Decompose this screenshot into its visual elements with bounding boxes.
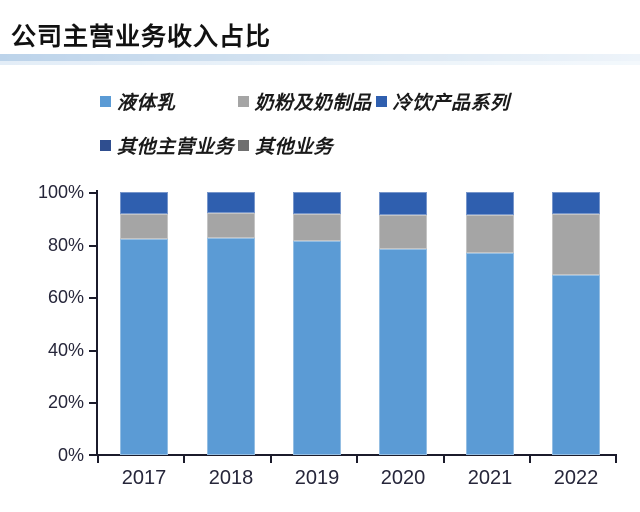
y-tick-label-100: 100% [24,182,84,203]
bar-segment-2019-奶粉及奶制品[interactable] [293,214,341,241]
bar-segment-2017-液体乳[interactable] [120,239,168,455]
bar-segment-2017-奶粉及奶制品[interactable] [120,214,168,239]
bar-group-2017[interactable] [120,192,168,455]
x-tick-label-2021: 2021 [450,467,530,490]
bar-segment-2020-冷饮产品系列[interactable] [379,192,427,215]
x-tick-mark-0 [97,456,99,463]
y-tick-label-0: 0% [24,445,84,466]
bar-segment-2022-液体乳[interactable] [552,275,600,455]
y-tick-mark-0 [89,454,96,456]
y-tick-mark-20 [89,402,96,404]
bar-segment-2022-奶粉及奶制品[interactable] [552,214,600,274]
chart-plot-area: 100% 80% 60% 40% 20% 0% 2017 2018 2019 2… [0,0,640,512]
bar-segment-2017-冷饮产品系列[interactable] [120,192,168,214]
bar-segment-2019-冷饮产品系列[interactable] [293,192,341,214]
y-tick-mark-60 [89,297,96,299]
y-tick-label-20: 20% [24,392,84,413]
x-tick-label-2018: 2018 [191,467,271,490]
y-tick-mark-100 [89,192,96,194]
y-tick-mark-80 [89,245,96,247]
bar-group-2022[interactable] [552,192,600,455]
bar-group-2018[interactable] [207,192,255,455]
bar-segment-2018-冷饮产品系列[interactable] [207,192,255,213]
bar-segment-2019-液体乳[interactable] [293,241,341,455]
x-tick-label-2022: 2022 [536,467,616,490]
y-tick-label-60: 60% [24,287,84,308]
y-tick-label-80: 80% [24,235,84,256]
x-tick-mark-3 [356,456,358,463]
bar-group-2019[interactable] [293,192,341,455]
bar-segment-2018-液体乳[interactable] [207,238,255,455]
bar-group-2021[interactable] [466,192,514,455]
x-tick-mark-4 [443,456,445,463]
x-tick-mark-5 [529,456,531,463]
bar-group-2020[interactable] [379,192,427,455]
bar-segment-2021-奶粉及奶制品[interactable] [466,215,514,253]
bar-segment-2021-液体乳[interactable] [466,253,514,455]
bar-segment-2020-液体乳[interactable] [379,249,427,455]
bar-segment-2018-奶粉及奶制品[interactable] [207,213,255,238]
x-tick-mark-2 [270,456,272,463]
x-tick-mark-6 [615,456,617,463]
bar-segment-2020-奶粉及奶制品[interactable] [379,215,427,249]
x-tick-mark-1 [183,456,185,463]
bar-segment-2021-冷饮产品系列[interactable] [466,192,514,215]
x-tick-label-2020: 2020 [363,467,443,490]
x-tick-label-2017: 2017 [104,467,184,490]
y-tick-mark-40 [89,350,96,352]
x-tick-label-2019: 2019 [277,467,357,490]
bar-segment-2022-冷饮产品系列[interactable] [552,192,600,214]
y-axis-line [96,190,98,456]
y-tick-label-40: 40% [24,340,84,361]
